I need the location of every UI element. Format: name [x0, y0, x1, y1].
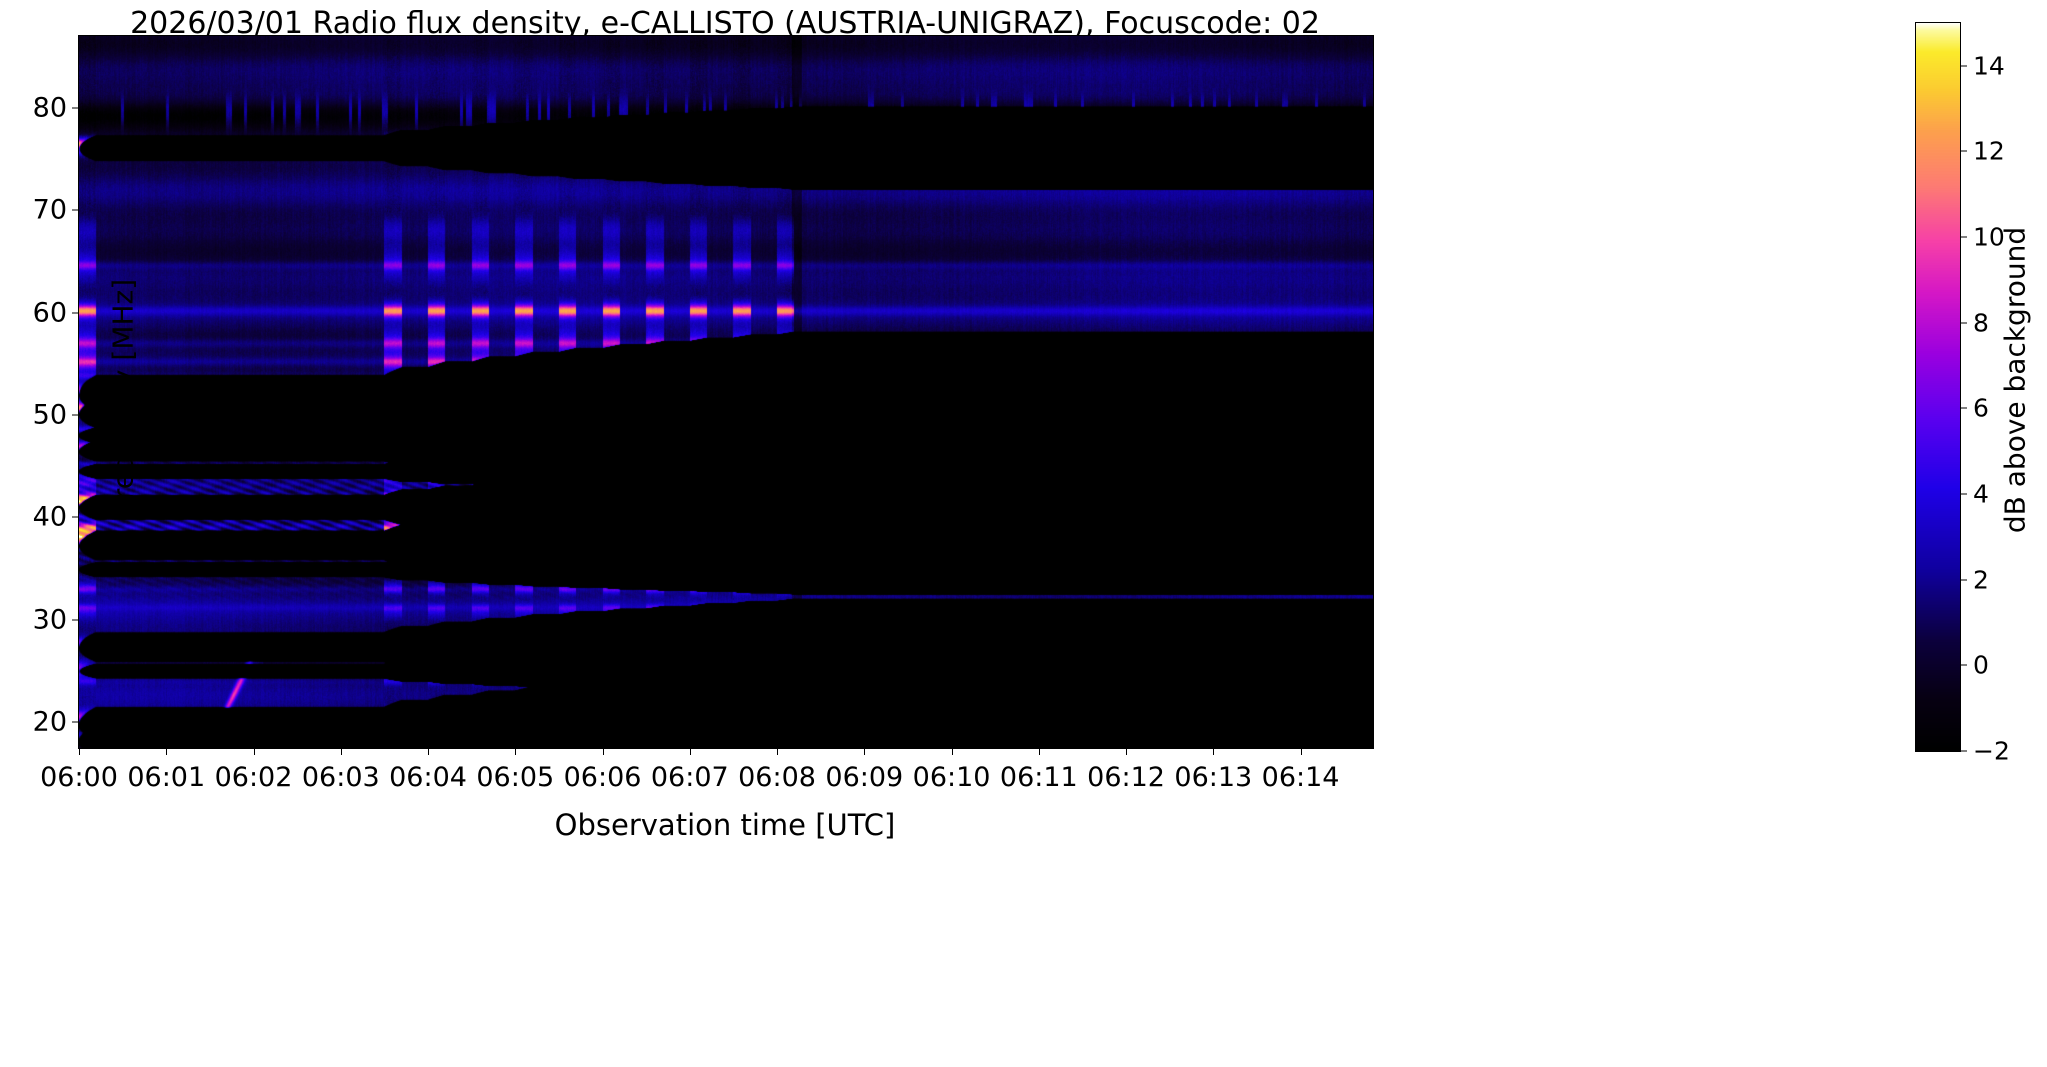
colorbar-tick-mark [1960, 151, 1967, 152]
x-tick-mark [690, 748, 691, 755]
x-tick-mark [79, 748, 80, 755]
x-tick-mark [1126, 748, 1127, 755]
spectrogram-axes: Frequency [MHz] 80706050403020 06:0006:0… [78, 35, 1374, 749]
x-axis-label: Observation time [UTC] [78, 808, 1372, 842]
x-tick-mark [777, 748, 778, 755]
y-tick-mark [72, 415, 79, 416]
colorbar-tick-mark [1960, 751, 1967, 752]
colorbar-axes: 14121086420−2 [1915, 22, 1961, 752]
spectrogram-figure: 2026/03/01 Radio flux density, e-CALLIST… [0, 0, 2047, 1067]
y-tick-mark [72, 210, 79, 211]
spectrogram-image [79, 36, 1373, 748]
y-tick-mark [72, 312, 79, 313]
x-tick-mark [254, 748, 255, 755]
colorbar-label-wrap: dB above background [1985, 0, 2045, 760]
y-axis-label: Frequency [MHz] [107, 97, 140, 697]
x-tick-mark [1039, 748, 1040, 755]
x-tick-mark [166, 748, 167, 755]
x-tick-mark [1301, 748, 1302, 755]
colorbar-tick-mark [1960, 322, 1967, 323]
y-tick-mark [72, 722, 79, 723]
x-tick-mark [603, 748, 604, 755]
colorbar-tick-mark [1960, 237, 1967, 238]
x-tick-mark [428, 748, 429, 755]
y-tick-mark [72, 619, 79, 620]
y-tick-mark [72, 517, 79, 518]
colorbar-tick-mark [1960, 408, 1967, 409]
colorbar-tick-mark [1960, 65, 1967, 66]
x-tick-mark [864, 748, 865, 755]
x-tick-mark [1213, 748, 1214, 755]
y-tick-mark [72, 107, 79, 108]
colorbar-label: dB above background [1999, 227, 2032, 533]
x-tick-mark [515, 748, 516, 755]
x-tick-mark [341, 748, 342, 755]
x-tick-mark [952, 748, 953, 755]
colorbar-tick-mark [1960, 579, 1967, 580]
colorbar-tick-mark [1960, 665, 1967, 666]
colorbar-tick-mark [1960, 494, 1967, 495]
colorbar-gradient [1916, 23, 1960, 751]
